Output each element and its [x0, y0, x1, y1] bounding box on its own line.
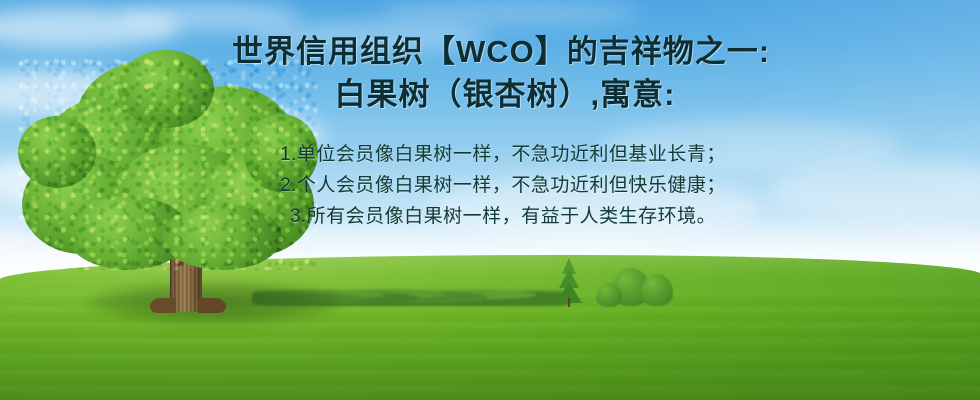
headline-block: 世界信用组织【WCO】的吉祥物之一: 白果树（银杏树）,寓意:: [0, 30, 980, 116]
headline-line-2: 白果树（银杏树）,寓意:: [0, 73, 980, 116]
small-conifer-tree: [556, 258, 582, 306]
meaning-item-1: 1.单位会员像白果树一样，不急功近利但基业长青；: [0, 139, 980, 170]
mid-tree-icon: [641, 274, 673, 306]
promo-banner: 世界信用组织【WCO】的吉祥物之一: 白果树（银杏树）,寓意: 1.单位会员像白…: [0, 0, 980, 400]
conifer-trunk: [568, 298, 570, 307]
meaning-item-3: 3.所有会员像白果树一样，有益于人类生存环境。: [0, 201, 980, 232]
meaning-list: 1.单位会员像白果树一样，不急功近利但基业长青； 2.个人会员像白果树一样，不急…: [0, 139, 980, 232]
tree-root-right: [198, 298, 226, 313]
meaning-item-2: 2.个人会员像白果树一样，不急功近利但快乐健康；: [0, 170, 980, 201]
mid-tree-icon: [596, 283, 622, 307]
tree-root-left: [150, 298, 176, 313]
headline-line-1: 世界信用组织【WCO】的吉祥物之一:: [0, 30, 980, 73]
